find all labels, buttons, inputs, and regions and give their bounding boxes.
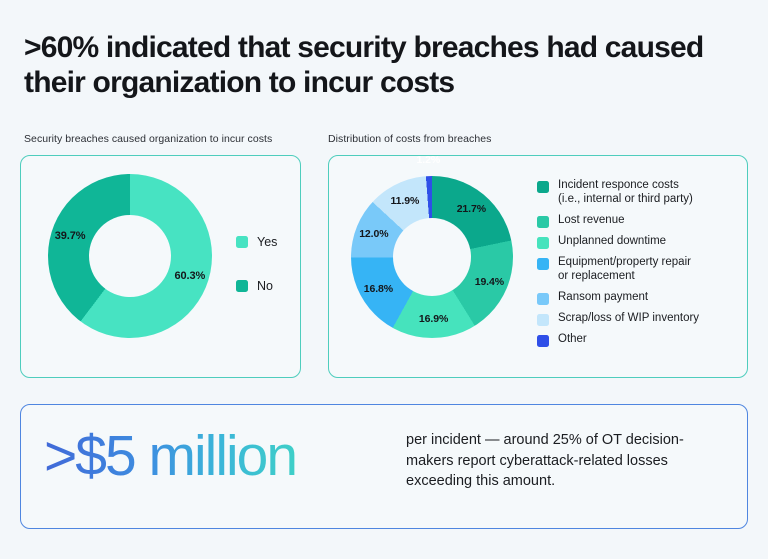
- section-subtitles: Security breaches caused organization to…: [20, 133, 748, 149]
- slice-label: 60.3%: [175, 270, 206, 282]
- slice-label: 16.9%: [419, 313, 448, 325]
- legend-swatch-icon: [537, 216, 549, 228]
- legend-item[interactable]: Ransom payment: [537, 290, 742, 305]
- legend-swatch-icon: [236, 280, 248, 292]
- slice-label: 21.7%: [457, 203, 486, 215]
- legend-item-label: Lost revenue: [558, 213, 625, 227]
- legend-swatch-icon: [236, 236, 248, 248]
- yes-no-legend: YesNo: [236, 235, 277, 322]
- legend-item-label: Yes: [257, 235, 277, 251]
- distribution-donut-chart: 21.7%19.4%16.9%16.8%12.0%11.9%1.2%: [351, 176, 513, 338]
- donut-ring: 60.3%39.7%: [48, 174, 212, 338]
- legend-swatch-icon: [537, 293, 549, 305]
- slice-label: 1.2%: [417, 154, 441, 166]
- legend-swatch-icon: [537, 314, 549, 326]
- legend-item-label: No: [257, 279, 273, 295]
- stat-headline-number: >$5 million: [44, 428, 296, 485]
- legend-item[interactable]: Equipment/property repair or replacement: [537, 255, 742, 284]
- legend-item[interactable]: No: [236, 279, 277, 295]
- legend-item-label: Unplanned downtime: [558, 234, 666, 248]
- legend-item-label: Equipment/property repair or replacement: [558, 255, 691, 284]
- donut-ring: 21.7%19.4%16.9%16.8%12.0%11.9%1.2%: [351, 176, 513, 338]
- yes-no-donut-chart: 60.3%39.7%: [48, 174, 212, 338]
- slice-label: 12.0%: [359, 228, 388, 240]
- legend-item-label: Ransom payment: [558, 290, 648, 304]
- legend-item[interactable]: Other: [537, 332, 742, 347]
- legend-swatch-icon: [537, 181, 549, 193]
- legend-item[interactable]: Unplanned downtime: [537, 234, 742, 249]
- slice-label: 16.8%: [364, 283, 393, 295]
- legend-swatch-icon: [537, 335, 549, 347]
- left-chart-subtitle: Security breaches caused organization to…: [24, 133, 272, 145]
- slice-label: 11.9%: [391, 195, 420, 207]
- stat-description: per incident — around 25% of OT decision…: [406, 430, 726, 492]
- legend-item[interactable]: Incident responce costs (i.e., internal …: [537, 178, 742, 207]
- legend-swatch-icon: [537, 237, 549, 249]
- donut-hole: [89, 215, 171, 297]
- slice-label: 39.7%: [55, 230, 86, 242]
- slice-label: 19.4%: [475, 276, 504, 288]
- legend-item-label: Other: [558, 332, 587, 346]
- donut-hole: [393, 218, 471, 296]
- infographic-page: >60% indicated that security breaches ha…: [0, 0, 768, 559]
- page-title: >60% indicated that security breaches ha…: [24, 30, 748, 101]
- right-chart-subtitle: Distribution of costs from breaches: [328, 133, 491, 145]
- legend-swatch-icon: [537, 258, 549, 270]
- distribution-legend: Incident responce costs (i.e., internal …: [537, 178, 742, 353]
- legend-item[interactable]: Yes: [236, 235, 277, 251]
- legend-item-label: Incident responce costs (i.e., internal …: [558, 178, 693, 207]
- legend-item-label: Scrap/loss of WIP inventory: [558, 311, 699, 325]
- legend-item[interactable]: Scrap/loss of WIP inventory: [537, 311, 742, 326]
- legend-item[interactable]: Lost revenue: [537, 213, 742, 228]
